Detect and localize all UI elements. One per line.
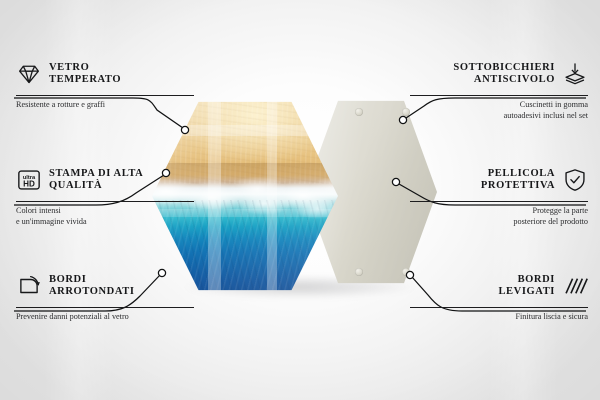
feature-bordi-arrotondati: BORDIARROTONDATI Prevenire danni potenzi… (16, 268, 194, 323)
window-reflection (152, 125, 338, 137)
feature-bordi-levigati: BORDILEVIGATI Finitura liscia e sicura (410, 268, 588, 323)
rubber-pad (355, 108, 363, 116)
feature-description: Prevenire danni potenziali al vetro (16, 312, 194, 323)
feature-title: BORDILEVIGATI (498, 274, 555, 299)
feature-title: PELLICOLAPROTETTIVA (481, 168, 555, 193)
leader-endpoint-sottobicchieri (399, 116, 406, 123)
feature-stampa-alta-qualita: ultra HD STAMPA DI ALTAQUALITÀ Colori in… (16, 162, 194, 227)
feature-divider (410, 201, 588, 202)
feature-divider (16, 95, 194, 96)
rubber-pad (402, 268, 410, 276)
rubber-pad (402, 108, 410, 116)
leader-endpoint-pellicola (392, 178, 399, 185)
leader-endpoint-vetro-temperato (181, 126, 188, 133)
surf-foam-secondary (226, 188, 338, 219)
rounded-corner-icon (16, 273, 42, 299)
diagonal-stripes-icon (562, 273, 588, 299)
feature-title: STAMPA DI ALTAQUALITÀ (49, 168, 143, 193)
feature-sottobicchieri-antiscivolo: SOTTOBICCHIERIANTISCIVOLO Cuscinetti in … (410, 56, 588, 121)
feature-header: BORDILEVIGATI (410, 268, 588, 304)
feature-header: SOTTOBICCHIERIANTISCIVOLO (410, 56, 588, 92)
feature-description: Colori intensie un'immagine vivida (16, 206, 194, 227)
rubber-pad (355, 268, 363, 276)
feature-divider (16, 201, 194, 202)
feature-header: BORDIARROTONDATI (16, 268, 194, 304)
feature-vetro-temperato: VETROTEMPERATO Resistente a rotture e gr… (16, 56, 194, 111)
shield-check-icon (562, 167, 588, 193)
feature-divider (410, 95, 588, 96)
feature-pellicola-protettiva: PELLICOLAPROTETTIVA Protegge la partepos… (410, 162, 588, 227)
feature-header: VETROTEMPERATO (16, 56, 194, 92)
product-shadow (150, 272, 450, 302)
window-reflection (267, 100, 276, 292)
ultra-hd-icon: ultra HD (16, 167, 42, 193)
feature-description: Cuscinetti in gommaautoadesivi inclusi n… (410, 100, 588, 121)
feature-header: PELLICOLAPROTETTIVA (410, 162, 588, 198)
feature-title: BORDIARROTONDATI (49, 274, 135, 299)
diamond-icon (16, 61, 42, 87)
window-reflection (208, 100, 221, 292)
feature-divider (16, 307, 194, 308)
feature-description: Protegge la parteposteriore del prodotto (410, 206, 588, 227)
feature-description: Resistente a rotture e graffi (16, 100, 194, 111)
feature-title: VETROTEMPERATO (49, 62, 121, 87)
svg-text:HD: HD (23, 180, 35, 189)
feature-description: Finitura liscia e sicura (410, 312, 588, 323)
feature-title: SOTTOBICCHIERIANTISCIVOLO (453, 62, 555, 87)
infographic-canvas: VETROTEMPERATO Resistente a rotture e gr… (0, 0, 600, 400)
feature-divider (410, 307, 588, 308)
feature-header: ultra HD STAMPA DI ALTAQUALITÀ (16, 162, 194, 198)
anti-slip-pad-icon (562, 61, 588, 87)
